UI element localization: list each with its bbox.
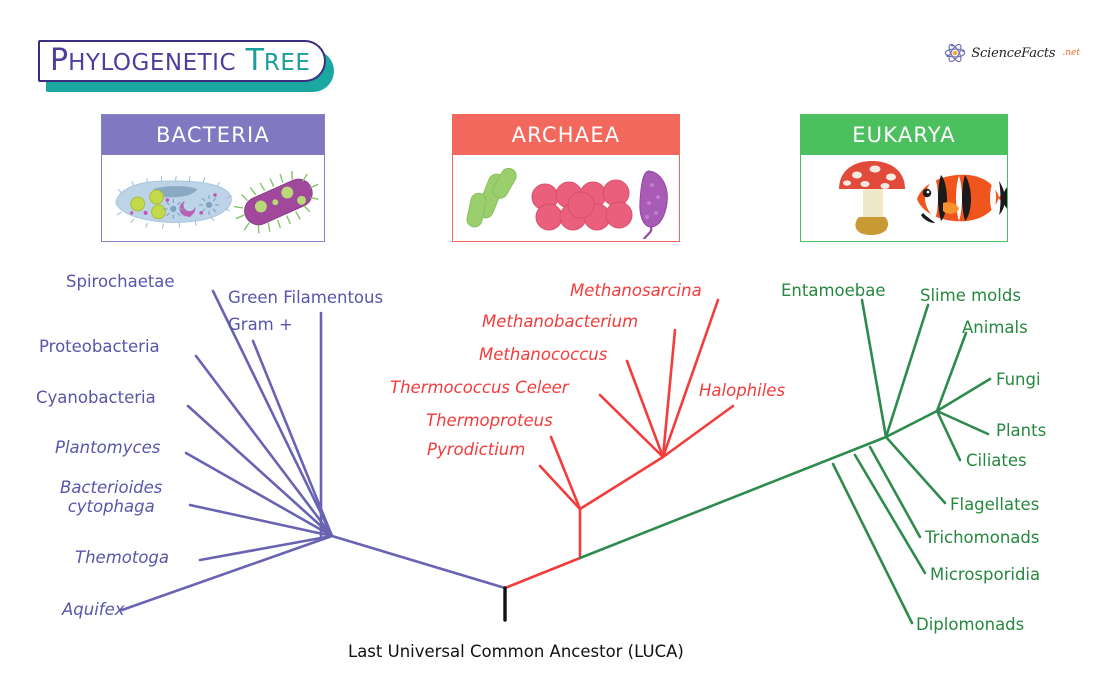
tip-microsporidia: Microsporidia	[930, 565, 1040, 585]
tip-flagellates: Flagellates	[950, 495, 1039, 515]
tip-ciliates: Ciliates	[966, 451, 1027, 471]
tip-animals: Animals	[962, 318, 1028, 338]
logo-wordmark: ScienceFacts	[971, 46, 1055, 61]
title-hylogenetic: HYLOGENETIC	[68, 50, 236, 76]
tip-plants: Plants	[996, 421, 1046, 441]
tip-trichomonads: Trichomonads	[925, 528, 1039, 548]
tip-thermoproteus: Thermoproteus	[426, 411, 553, 431]
tip-gram-plus: Gram +	[228, 315, 293, 335]
tip-pyrodictium: Pyrodictium	[427, 440, 525, 460]
tip-aquifex: Aquifex	[62, 600, 125, 620]
tip-thermococcus-celeer: Thermococcus Celeer	[390, 378, 569, 398]
tip-halophiles: Halophiles	[699, 381, 785, 401]
page-title: PHYLOGENETIC TREE	[50, 44, 310, 82]
title-t: T	[246, 43, 264, 78]
atom-icon	[944, 42, 966, 64]
logo-suffix: .net	[1062, 48, 1080, 58]
tip-plantomyces: Plantomyces	[55, 438, 160, 458]
tip-bacterioides-line1: Bacterioides	[60, 478, 162, 497]
phylogenetic-tree-infographic: PHYLOGENETIC TREE ScienceFacts .net BACT…	[0, 0, 1102, 700]
tip-themotoga: Themotoga	[75, 548, 169, 568]
eukarya-branches	[580, 300, 990, 623]
tip-diplomonads: Diplomonads	[916, 615, 1024, 635]
tip-slime-molds: Slime molds	[920, 286, 1021, 306]
sciencefacts-logo[interactable]: ScienceFacts .net	[944, 42, 1080, 64]
tip-proteobacteria: Proteobacteria	[39, 337, 160, 357]
luca-label: Last Universal Common Ancestor (LUCA)	[348, 642, 684, 661]
tip-methanosarcina: Methanosarcina	[570, 281, 702, 301]
tip-cyanobacteria: Cyanobacteria	[36, 388, 156, 408]
archaea-branches	[505, 300, 733, 588]
tip-bacterioides-cytophaga: Bacterioides cytophaga	[60, 478, 162, 516]
tip-methanobacterium: Methanobacterium	[482, 312, 638, 332]
tip-methanococcus: Methanococcus	[479, 345, 607, 365]
tip-green-filamentous: Green Filamentous	[228, 288, 383, 308]
tip-bacterioides-line2: cytophaga	[60, 497, 162, 516]
tip-spirochaetae: Spirochaetae	[66, 272, 175, 292]
tip-fungi: Fungi	[996, 370, 1041, 390]
title-p: P	[50, 43, 68, 78]
title-ree: REE	[264, 50, 311, 76]
tip-entamoebae: Entamoebae	[781, 281, 886, 301]
